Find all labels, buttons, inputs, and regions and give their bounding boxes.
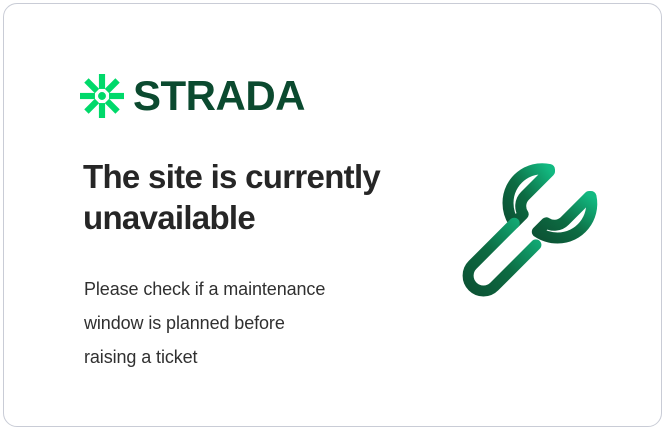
- wrench-icon: [456, 156, 616, 316]
- brand-wordmark: STRADA: [133, 75, 305, 117]
- description-line: raising a ticket: [84, 340, 389, 374]
- brand-logo: STRADA: [80, 69, 305, 123]
- description-line: Please check if a maintenance: [84, 272, 389, 306]
- message-card: STRADA The site is currently unavailable…: [3, 3, 662, 427]
- description-line: window is planned before: [84, 306, 389, 340]
- page-title: The site is currently unavailable: [83, 156, 413, 238]
- page-description: Please check if a maintenance window is …: [84, 272, 389, 374]
- error-page: STRADA The site is currently unavailable…: [0, 0, 666, 436]
- strada-asterisk-icon: [80, 74, 124, 118]
